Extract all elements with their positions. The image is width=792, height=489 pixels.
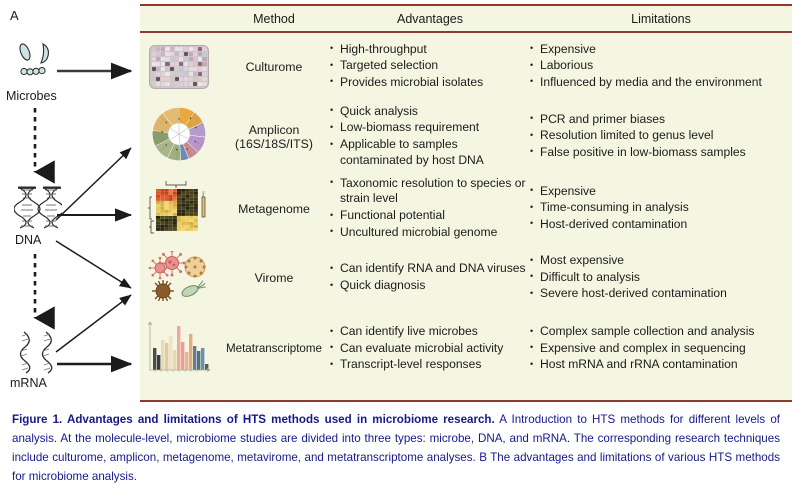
list-item: Influenced by media and the environment [530, 75, 792, 91]
limitations-list-culturome: Expensive Laborious Influenced by media … [530, 42, 792, 92]
method-name-metagenome: Metagenome [218, 202, 330, 216]
list-item: Functional potential [330, 208, 528, 224]
arrow-mrna-to-virome [56, 295, 131, 352]
list-item: Severe host-derived contamination [530, 286, 792, 302]
limitations-list-virome: Most expensive Difficult to analysis Sev… [530, 253, 792, 303]
row-icon-cell [140, 319, 218, 380]
table-header-row: Method Advantages Limitations [140, 6, 792, 33]
panel-b-methods-table: Method Advantages Limitations Culturome … [140, 4, 792, 402]
list-item: Host mRNA and rRNA contamination [530, 357, 792, 373]
list-item: Quick diagnosis [330, 278, 528, 294]
method-name-sub: (16S/18S/ITS) [218, 137, 330, 151]
figure-caption: Figure 1. Advantages and limitations of … [12, 410, 780, 486]
figure-root: A Microbes [0, 0, 792, 489]
heatmap-icon: Sample [148, 179, 210, 239]
table-row: Amplicon (16S/18S/ITS) Quick analysis Lo… [140, 100, 792, 173]
culture-plate-icon [149, 45, 209, 89]
advantages-list-metagenome: Taxonomic resolution to species or strai… [330, 176, 530, 241]
list-item: Uncultured microbial genome [330, 225, 528, 241]
caption-title: Figure 1. Advantages and limitations of … [12, 413, 495, 426]
list-item: Can evaluate microbial activity [330, 341, 528, 357]
arrow-dna-to-virome [56, 241, 131, 288]
arrow-dna-to-amplicon [56, 148, 131, 220]
list-item: Laborious [530, 58, 792, 74]
column-header-limitations: Limitations [530, 12, 792, 26]
list-item: Expensive and complex in sequencing [530, 341, 792, 357]
row-icon-cell [140, 105, 218, 168]
list-item: Quick analysis [330, 104, 528, 120]
limitations-list-amplicon: PCR and primer biases Resolution limited… [530, 112, 792, 162]
limitations-list-metagenome: Expensive Time-consuming in analysis Hos… [530, 184, 792, 234]
panel-a-flow-diagram: A Microbes [0, 0, 140, 404]
list-item: Transcript-level responses [330, 357, 528, 373]
row-icon-cell [140, 45, 218, 89]
method-name-culturome: Culturome [218, 60, 330, 74]
method-name-metatranscriptome: Metatranscriptome [218, 342, 330, 356]
list-item: Resolution limited to genus level [530, 128, 792, 144]
list-item: Complex sample collection and analysis [530, 324, 792, 340]
bar-chart-icon [145, 319, 213, 380]
krona-wheel-icon [150, 105, 208, 168]
limitations-list-metatranscriptome: Complex sample collection and analysis E… [530, 324, 792, 374]
table-row: Virome Can identify RNA and DNA viruses … [140, 244, 792, 312]
table-row: Culturome High-throughput Targeted selec… [140, 33, 792, 100]
advantages-list-culturome: High-throughput Targeted selection Provi… [330, 42, 530, 92]
table-row: Metatranscriptome Can identify live micr… [140, 312, 792, 386]
list-item: Most expensive [530, 253, 792, 269]
list-item: Host-derived contamination [530, 217, 792, 233]
list-item: False positive in low-biomass samples [530, 145, 792, 161]
method-name-virome: Virome [218, 271, 330, 285]
row-icon-cell: Sample [140, 179, 218, 239]
list-item: Time-consuming in analysis [530, 200, 792, 216]
column-header-advantages: Advantages [330, 12, 530, 26]
list-item: PCR and primer biases [530, 112, 792, 128]
flow-arrows [0, 0, 140, 404]
list-item: Can identify live microbes [330, 324, 528, 340]
method-name-main: Amplicon [249, 123, 300, 137]
virus-particles-icon [148, 251, 210, 306]
column-header-method: Method [218, 12, 330, 26]
table-row: Sample Metagenome Taxonomic resolution t… [140, 173, 792, 244]
advantages-list-amplicon: Quick analysis Low-biomass requirement A… [330, 104, 530, 169]
list-item: Taxonomic resolution to species or strai… [330, 176, 528, 207]
list-item: Expensive [530, 42, 792, 58]
advantages-list-virome: Can identify RNA and DNA viruses Quick d… [330, 261, 530, 294]
list-item: Expensive [530, 184, 792, 200]
row-icon-cell [140, 251, 218, 306]
list-item: Can identify RNA and DNA viruses [330, 261, 528, 277]
list-item: Targeted selection [330, 58, 528, 74]
list-item: Applicable to samples contaminated by ho… [330, 137, 528, 168]
list-item: Difficult to analysis [530, 270, 792, 286]
list-item: Low-biomass requirement [330, 120, 528, 136]
advantages-list-metatranscriptome: Can identify live microbes Can evaluate … [330, 324, 530, 374]
list-item: High-throughput [330, 42, 528, 58]
method-name-amplicon: Amplicon (16S/18S/ITS) [218, 123, 330, 151]
list-item: Provides microbial isolates [330, 75, 528, 91]
